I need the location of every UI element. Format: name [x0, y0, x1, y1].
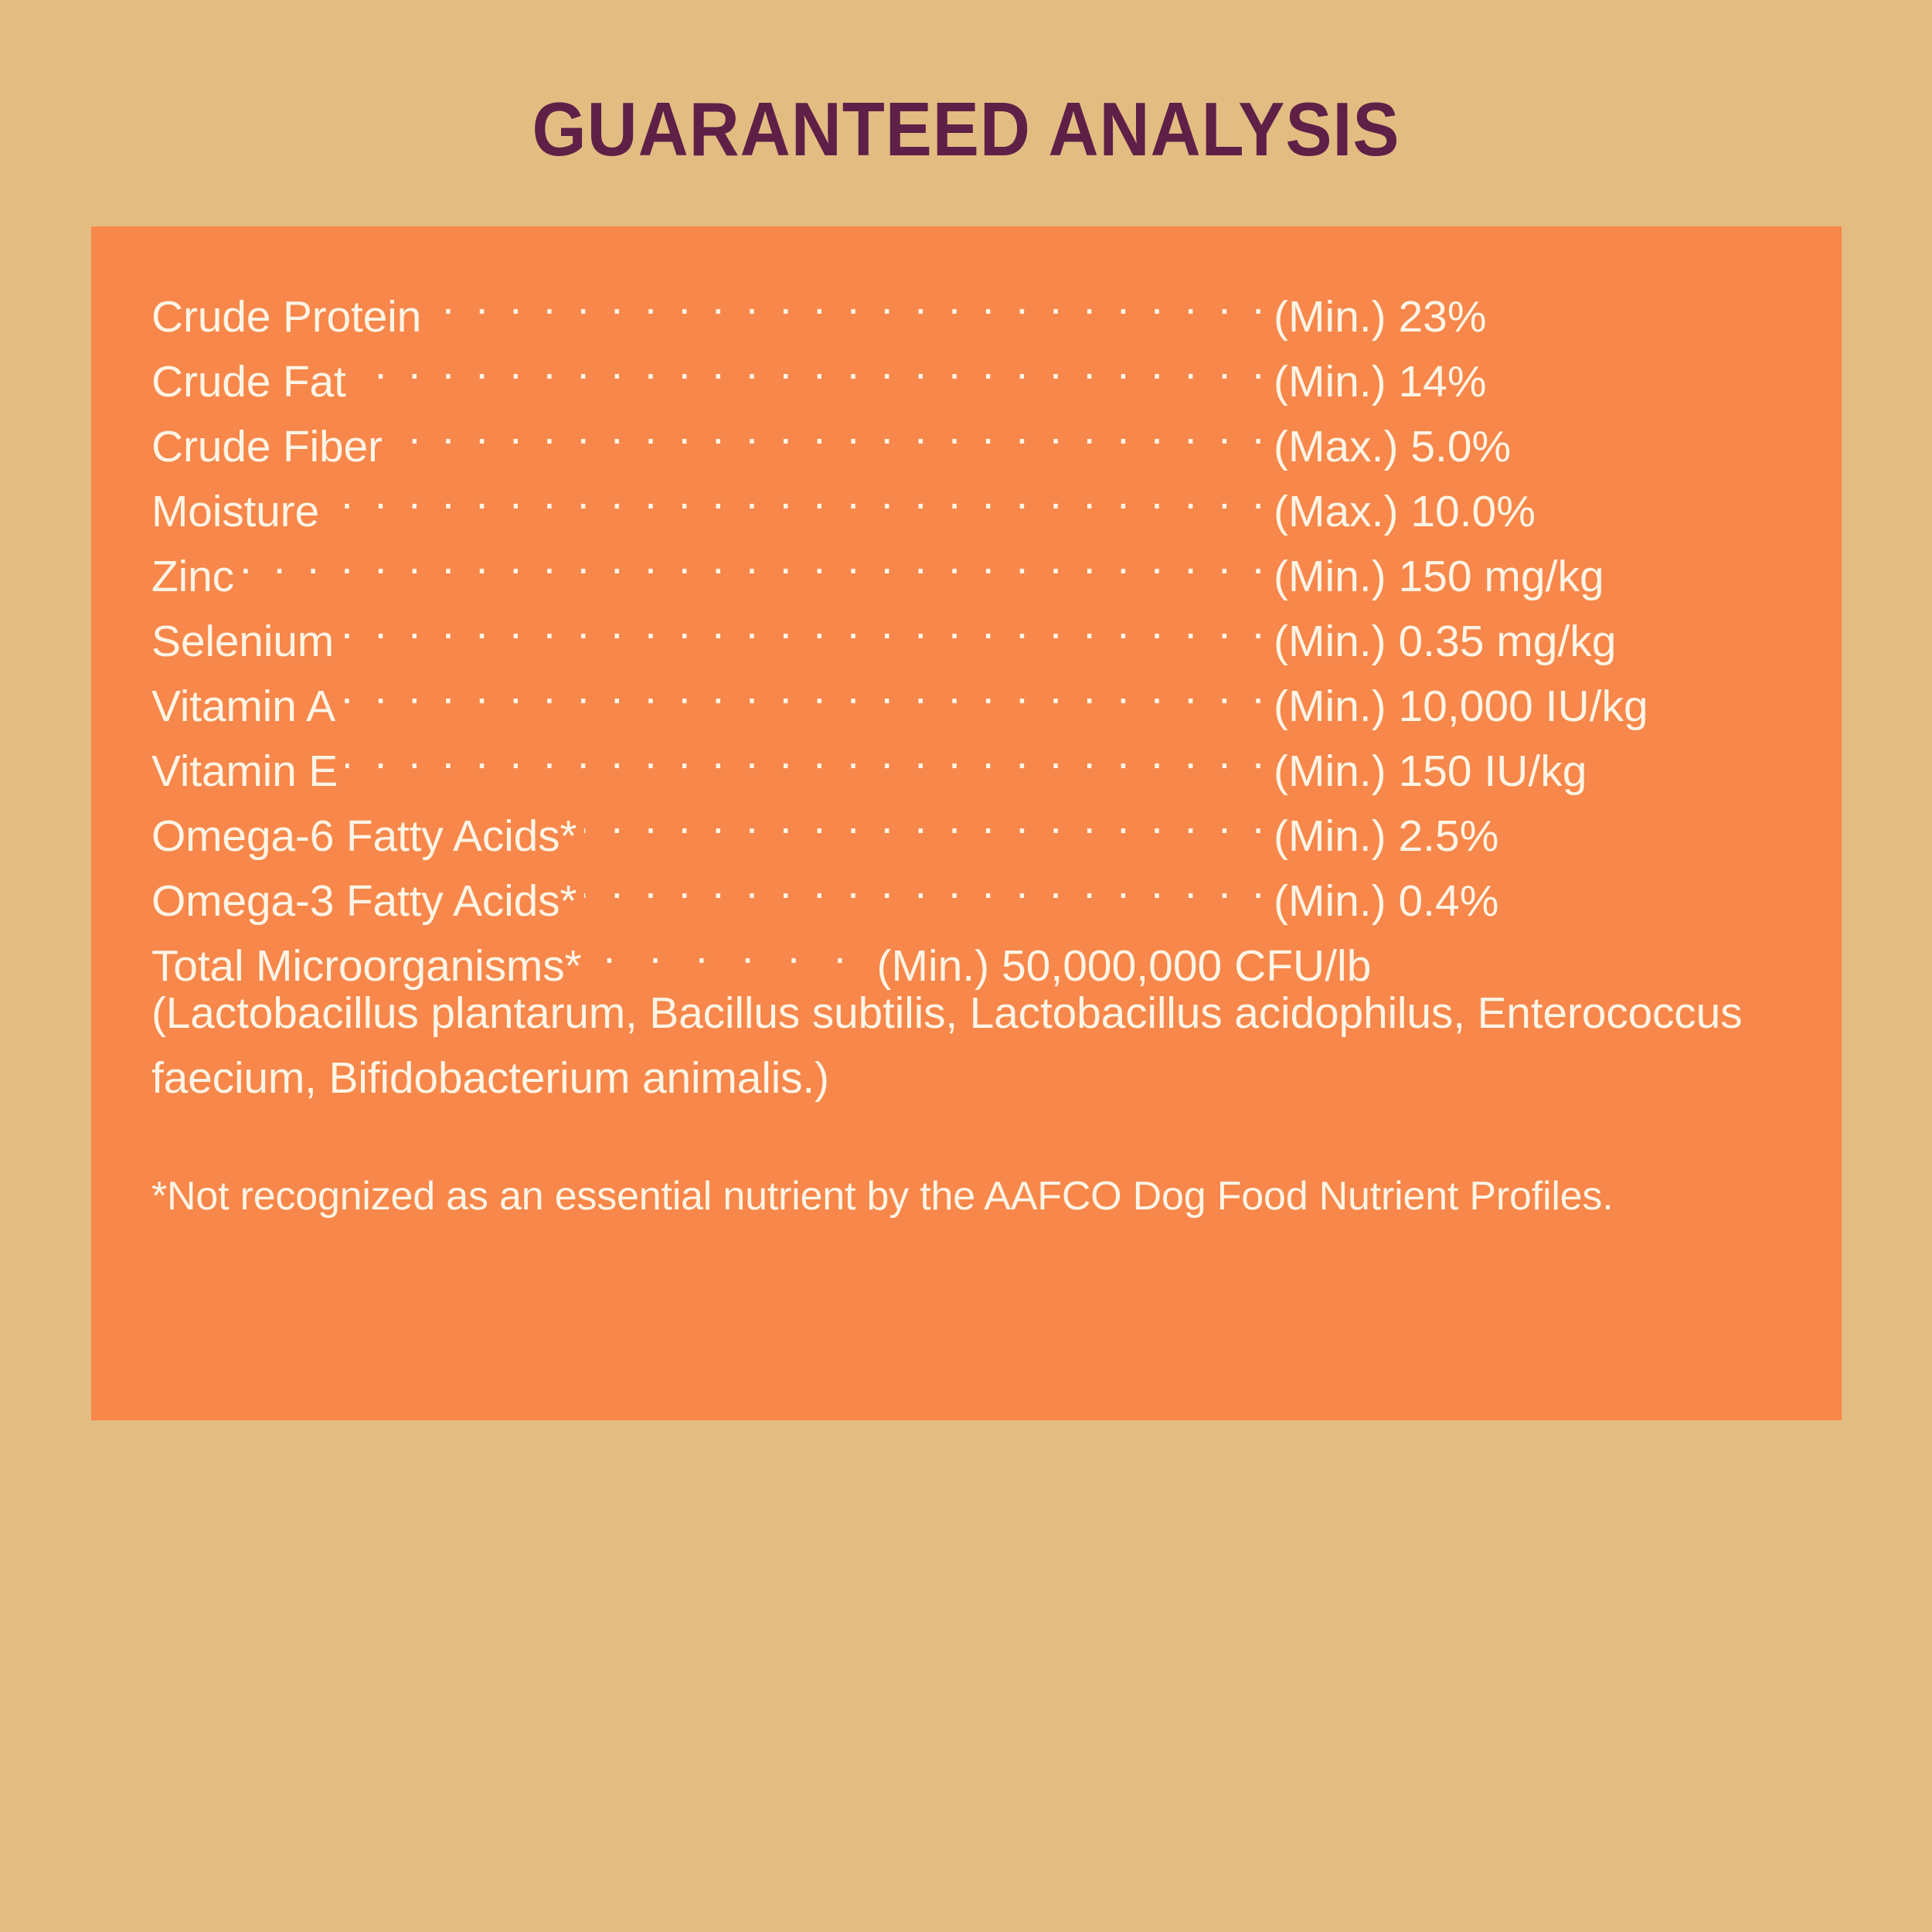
- dot-leader: [390, 396, 1269, 461]
- guaranteed-analysis-panel: Crude Protein (Min.) 23% Crude Fat (Min.…: [91, 226, 1842, 1420]
- dot-leader: [429, 267, 1269, 332]
- nutrient-label: Zinc: [151, 544, 234, 609]
- analysis-row: Crude Protein (Min.) 23%: [151, 267, 1828, 332]
- nutrient-value: (Min.) 2.5%: [1274, 804, 1828, 869]
- nutrient-value: (Min.) 0.35 mg/kg: [1274, 609, 1828, 674]
- nutrient-value: (Max.) 10.0%: [1274, 479, 1828, 544]
- nutrient-value: (Max.) 5.0%: [1274, 414, 1828, 479]
- dot-leader: [327, 461, 1269, 526]
- dot-leader: [354, 332, 1269, 396]
- dot-leader: [345, 721, 1269, 786]
- nutrient-label: Selenium: [151, 609, 334, 674]
- probiotic-strains-text: (Lactobacillus plantarum, Bacillus subti…: [151, 981, 1751, 1111]
- nutrient-value: (Min.) 0.4%: [1274, 869, 1828, 934]
- nutrient-value: (Min.) 150 IU/kg: [1274, 739, 1828, 804]
- page-title: GUARANTEED ANALYSIS: [77, 87, 1855, 172]
- nutrient-value: (Min.) 23%: [1274, 284, 1828, 349]
- analysis-list: Crude Protein (Min.) 23% Crude Fat (Min.…: [151, 267, 1828, 1226]
- dot-leader: [584, 786, 1269, 851]
- nutrient-value: (Min.) 10,000 IU/kg: [1274, 674, 1828, 739]
- nutrient-label: Crude Fat: [151, 349, 346, 414]
- footnote-text: *Not recognized as an essential nutrient…: [151, 1166, 1713, 1226]
- nutrient-value: (Min.) 150 mg/kg: [1274, 544, 1828, 609]
- nutrient-label: Vitamin A: [151, 674, 335, 739]
- dot-leader: [584, 851, 1269, 916]
- dot-leader: [242, 526, 1269, 591]
- dot-leader: [342, 591, 1269, 656]
- nutrient-label: Vitamin E: [151, 739, 338, 804]
- nutrient-value: (Min.) 14%: [1274, 349, 1828, 414]
- dot-leader: [603, 916, 858, 981]
- dot-leader: [343, 656, 1269, 721]
- nutrient-label: Omega-6 Fatty Acids*: [151, 804, 577, 869]
- nutrient-label: Omega-3 Fatty Acids*: [151, 869, 577, 934]
